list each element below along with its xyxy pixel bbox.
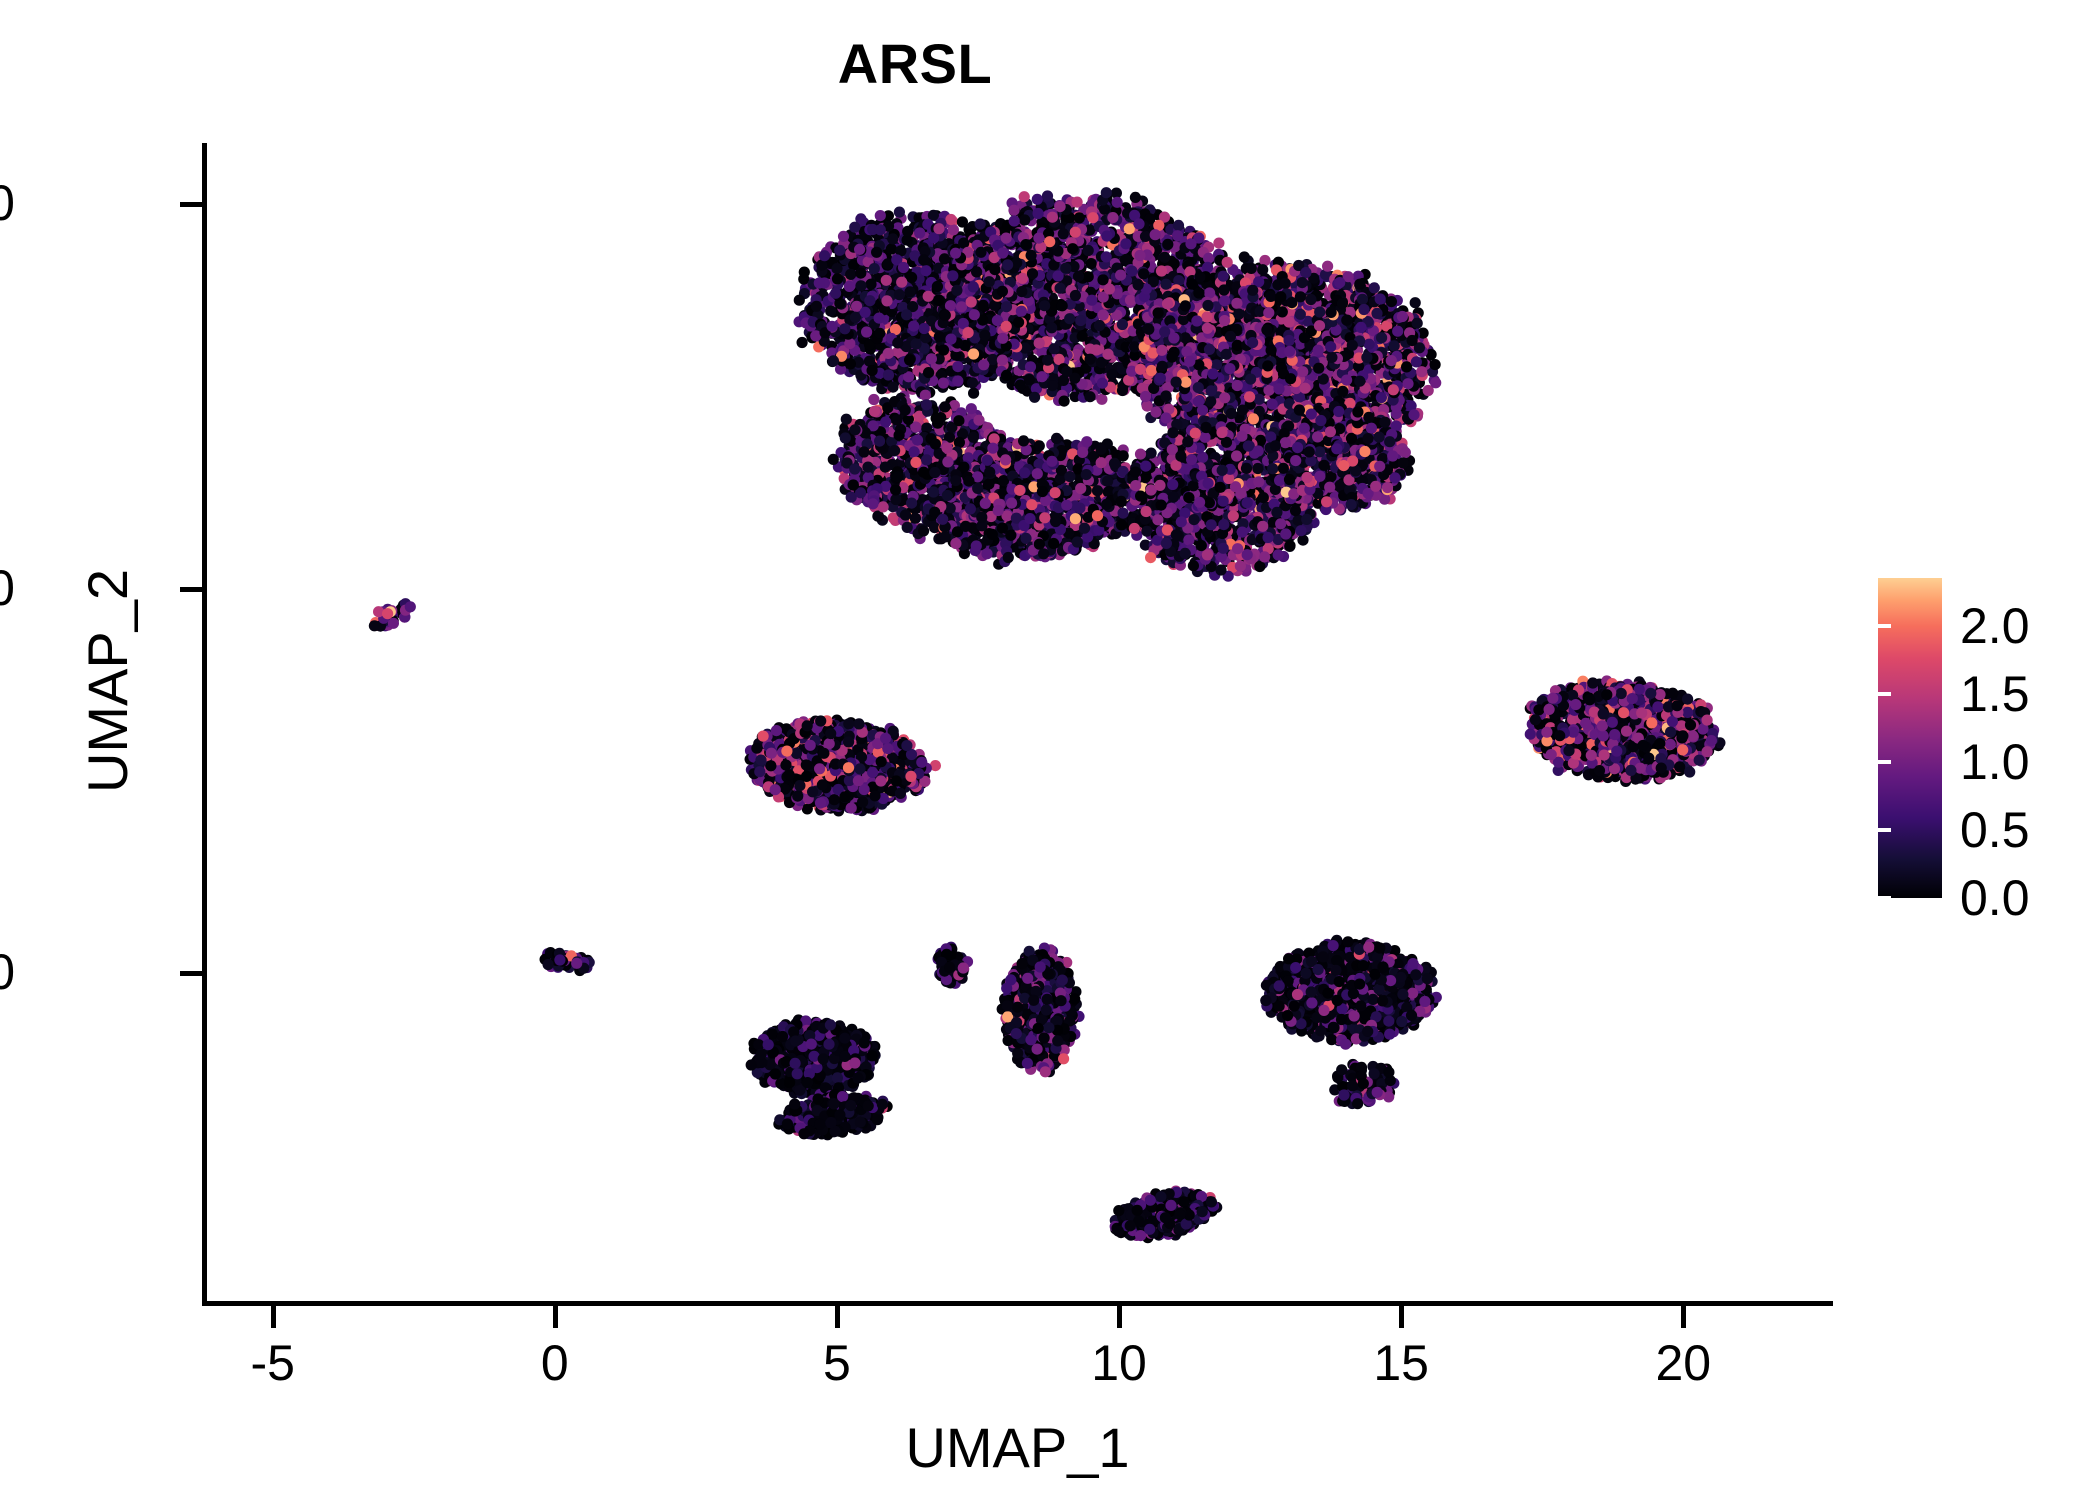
colorbar-tick xyxy=(2065,624,2078,628)
x-axis-line xyxy=(202,1301,1833,1306)
colorbar-tick xyxy=(1878,692,1891,696)
y-axis-line xyxy=(202,143,207,1306)
x-axis-title: UMAP_1 xyxy=(205,1420,1830,1476)
feature-plot-figure: ARSL 01020 -505101520 UMAP_1 UMAP_2 0.00… xyxy=(0,0,2100,1500)
colorbar-tick xyxy=(2065,760,2078,764)
colorbar-tick xyxy=(1878,828,1891,832)
colorbar-legend[interactable]: 0.00.51.01.52.0 xyxy=(1878,578,2078,918)
colorbar-tick xyxy=(1878,624,1891,628)
colorbar-tick xyxy=(2065,692,2078,696)
colorbar-tick-label: 1.5 xyxy=(1960,669,2030,719)
y-tick-mark xyxy=(180,202,202,207)
x-tick-label: 5 xyxy=(823,1338,851,1388)
x-tick-mark xyxy=(1117,1306,1122,1328)
y-tick-label: 10 xyxy=(0,563,15,613)
x-tick-mark xyxy=(1681,1306,1686,1328)
x-tick-mark xyxy=(553,1306,558,1328)
y-tick-mark xyxy=(180,971,202,976)
x-tick-label: 20 xyxy=(1655,1338,1711,1388)
scatter-points-layer xyxy=(205,143,1830,1303)
scatter-plot-panel[interactable] xyxy=(205,143,1830,1303)
x-tick-label: 15 xyxy=(1373,1338,1429,1388)
x-tick-mark xyxy=(835,1306,840,1328)
colorbar-tick xyxy=(2065,828,2078,832)
colorbar-tick xyxy=(1878,760,1891,764)
colorbar-tick-label: 1.0 xyxy=(1960,737,2030,787)
colorbar-tick xyxy=(2065,896,2078,900)
colorbar-tick-label: 0.0 xyxy=(1960,873,2030,923)
y-tick-label: 20 xyxy=(0,178,15,228)
y-tick-mark xyxy=(180,587,202,592)
colorbar-tick-label: 2.0 xyxy=(1960,601,2030,651)
y-tick-label: 0 xyxy=(0,947,15,997)
colorbar-tick xyxy=(1878,896,1891,900)
x-tick-label: 0 xyxy=(541,1338,569,1388)
x-tick-label: 10 xyxy=(1091,1338,1147,1388)
y-axis-title: UMAP_2 xyxy=(80,331,136,1031)
page-title: ARSL xyxy=(0,36,1830,92)
colorbar-tick-label: 0.5 xyxy=(1960,805,2030,855)
x-tick-mark xyxy=(271,1306,276,1328)
x-tick-mark xyxy=(1399,1306,1404,1328)
x-tick-label: -5 xyxy=(250,1338,294,1388)
